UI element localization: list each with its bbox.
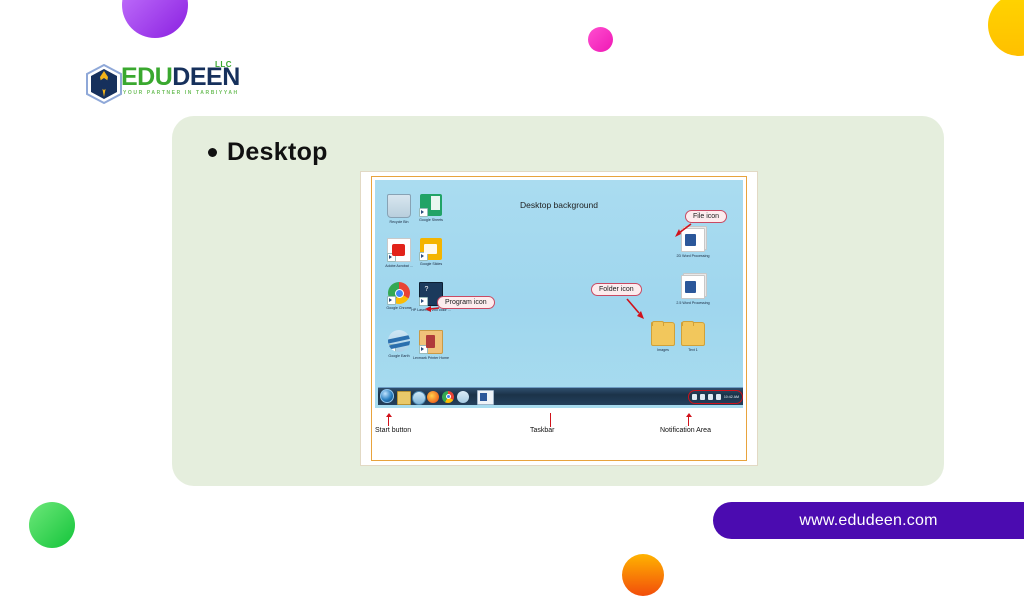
desktop-icon-label: Lexmark Printer Home (411, 356, 451, 361)
google-chrome-icon (388, 282, 410, 304)
desktop-screenshot-figure: Desktop background Recycle Bin Google Sh… (360, 171, 758, 466)
callout-arrow-folder (625, 297, 647, 321)
taskbar-internet-explorer-icon[interactable] (412, 391, 426, 405)
annotation-taskbar: Taskbar (530, 427, 555, 434)
logo-edu-text: EDU (121, 63, 172, 91)
shortcut-badge-icon (388, 344, 396, 352)
folder-icon (651, 322, 675, 346)
taskbar-clock[interactable]: 10:42 AM (724, 395, 739, 399)
annotation-line-notification (688, 417, 689, 426)
taskbar-office-icon[interactable] (477, 390, 494, 405)
decorative-circle-magenta (588, 27, 613, 52)
annotation-notification-area: Notification Area (660, 427, 711, 434)
desktop-icon-folder-text1[interactable]: Text 1 (673, 322, 713, 353)
annotation-line-start (388, 417, 389, 426)
taskbar-file-explorer-icon[interactable] (397, 391, 411, 405)
desktop-icon-label: Text 1 (673, 348, 713, 353)
shortcut-badge-icon (419, 252, 428, 261)
desktop-icon-lexmark-printer[interactable]: Lexmark Printer Home (411, 330, 451, 361)
decorative-circle-orange (622, 554, 664, 596)
tray-icon-1[interactable] (692, 394, 697, 400)
footer-url-bar: www.edudeen.com (713, 502, 1024, 539)
desktop-icon-word-doc-2[interactable]: 2.5 Word Processing (673, 275, 713, 306)
callout-folder-icon: Folder icon (591, 283, 642, 296)
taskbar[interactable]: 10:42 AM (378, 387, 743, 405)
decorative-circle-green (29, 502, 75, 548)
logo-llc-text: LLC (215, 60, 232, 69)
folder-icon (681, 322, 705, 346)
recycle-bin-icon (387, 194, 411, 218)
tray-icon-2[interactable] (700, 394, 705, 400)
lexmark-printer-icon (419, 330, 443, 354)
desktop-icon-label: 2D Word Processing (673, 254, 713, 259)
google-slides-icon (420, 238, 442, 260)
desktop-icon-google-slides[interactable]: Google Slides (411, 238, 451, 267)
adobe-acrobat-icon (387, 238, 411, 262)
page-title-row: Desktop (208, 138, 328, 167)
notification-area[interactable]: 10:42 AM (688, 390, 743, 404)
taskbar-google-earth-icon[interactable] (457, 391, 469, 403)
desktop-icon-label: 2.5 Word Processing (673, 301, 713, 306)
decorative-circle-purple (122, 0, 188, 38)
shortcut-badge-icon (419, 208, 428, 217)
callout-arrow-file (673, 222, 693, 238)
screenshot-frame: Desktop background Recycle Bin Google Sh… (371, 176, 747, 461)
desktop-surface: Desktop background Recycle Bin Google Sh… (375, 180, 743, 408)
desktop-icon-google-sheets[interactable]: Google Sheets (411, 194, 451, 223)
google-earth-icon (388, 330, 410, 352)
tray-icon-3[interactable] (708, 394, 713, 400)
taskbar-chrome-icon[interactable] (442, 391, 454, 403)
desktop-icon-label: Google Sheets (411, 218, 451, 223)
bullet-point-icon (208, 148, 217, 157)
content-panel: Desktop Desktop background Recycle Bin G… (172, 116, 944, 486)
desktop-background-label: Desktop background (520, 200, 598, 210)
decorative-circle-yellow (988, 0, 1024, 56)
taskbar-firefox-icon[interactable] (427, 391, 439, 403)
google-sheets-icon (420, 194, 442, 216)
shortcut-badge-icon (419, 345, 428, 354)
footer-url-text: www.edudeen.com (713, 502, 1024, 539)
word-document-icon (681, 275, 705, 299)
callout-program-icon: Program icon (437, 296, 495, 309)
annotation-line-taskbar (550, 413, 551, 427)
annotation-start-button: Start button (375, 427, 411, 434)
page-title: Desktop (227, 138, 328, 167)
tray-icon-4[interactable] (716, 394, 721, 400)
callout-arrow-program (423, 302, 441, 316)
edudeen-emblem-icon (84, 64, 124, 104)
shortcut-badge-icon (387, 296, 396, 305)
shortcut-badge-icon (387, 253, 396, 262)
brand-logo: EDUDEEN LLC YOUR PARTNER IN TARBIYYAH (84, 60, 234, 108)
logo-tagline: YOUR PARTNER IN TARBIYYAH (123, 90, 239, 96)
start-button[interactable] (380, 389, 394, 403)
desktop-icon-label: Google Slides (411, 262, 451, 267)
